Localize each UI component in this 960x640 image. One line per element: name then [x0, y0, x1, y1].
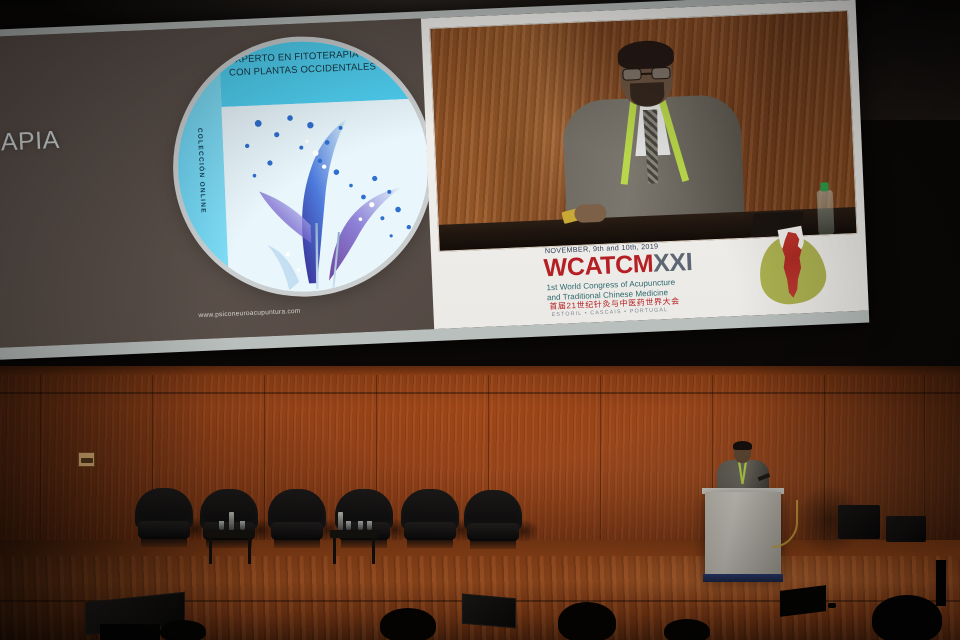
presentation-slide: APIA COLECCIÓN ONLINE EXPERTO EN FITOTER… — [0, 0, 869, 348]
congress-logo: NOVEMBER, 9th and 10th, 2019 WCATCMXXI 1… — [447, 229, 859, 322]
screen-surface: APIA COLECCIÓN ONLINE EXPERTO EN FITOTER… — [0, 0, 869, 348]
book-spine-label: COLECCIÓN ONLINE — [196, 128, 207, 214]
water-bottle-1[interactable] — [229, 512, 234, 530]
chair-6[interactable] — [464, 490, 522, 552]
drinking-glass-1[interactable] — [219, 521, 224, 530]
foreground-monitor-2 — [462, 594, 516, 629]
live-speaker-video — [429, 10, 857, 252]
floor-object — [828, 603, 836, 608]
book-front-face: EXPERTO EN FITOTERAPIA CHINA CON PLANTAS… — [219, 36, 434, 294]
foreground-monitor-1-stand — [100, 624, 160, 640]
lectern-body — [705, 492, 781, 578]
video-speaker-glasses-icon — [622, 67, 670, 81]
congress-acronym-roman: XXI — [653, 248, 693, 278]
book-cover-circle: COLECCIÓN ONLINE EXPERTO EN FITOTERAPIA … — [173, 36, 433, 296]
video-speaker-hair — [617, 40, 674, 70]
stage-monitor-speaker-1 — [838, 505, 880, 539]
side-table-1[interactable] — [206, 530, 254, 564]
drinking-glass-2[interactable] — [240, 521, 245, 530]
drinking-glass-4[interactable] — [358, 521, 363, 530]
audience-head-3 — [558, 602, 616, 640]
slide-url-text: www.psiconeuroacupuntura.com — [198, 308, 301, 319]
congress-leaf-map-icon — [757, 230, 832, 309]
congress-acronym-main: WCATCM — [543, 250, 654, 283]
chair-3[interactable] — [268, 489, 326, 551]
drinking-glass-5[interactable] — [367, 521, 372, 530]
book-cover-artwork — [222, 98, 434, 295]
wall-plaque — [78, 452, 95, 467]
conference-hall-scene: APIA COLECCIÓN ONLINE EXPERTO EN FITOTER… — [0, 0, 960, 640]
right-edge-pole — [936, 560, 946, 606]
presenter-hair — [733, 441, 752, 450]
audience-head-5 — [872, 595, 942, 640]
chair-5[interactable] — [401, 489, 459, 551]
video-water-bottle — [817, 190, 835, 235]
video-speaker-hand — [574, 204, 607, 223]
slide-heading-partial: APIA — [0, 126, 60, 157]
chair-1[interactable] — [135, 488, 193, 550]
lectern[interactable] — [705, 492, 781, 584]
abstract-flower-icon — [222, 98, 434, 295]
audience-head-2 — [160, 620, 206, 640]
audience-head-4 — [664, 619, 710, 640]
drinking-glass-3[interactable] — [346, 521, 351, 530]
slide-left-panel: APIA COLECCIÓN ONLINE EXPERTO EN FITOTER… — [0, 18, 434, 347]
projection-screen: APIA COLECCIÓN ONLINE EXPERTO EN FITOTER… — [0, 0, 869, 360]
audience-head-1 — [380, 608, 436, 640]
congress-acronym: WCATCMXXI — [543, 250, 693, 281]
side-table-2[interactable] — [330, 530, 378, 564]
water-bottle-2[interactable] — [338, 512, 343, 530]
lectern-base — [703, 574, 783, 582]
slide-right-panel: NOVEMBER, 9th and 10th, 2019 WCATCMXXI 1… — [421, 0, 869, 329]
stage-monitor-speaker-2 — [886, 516, 926, 542]
